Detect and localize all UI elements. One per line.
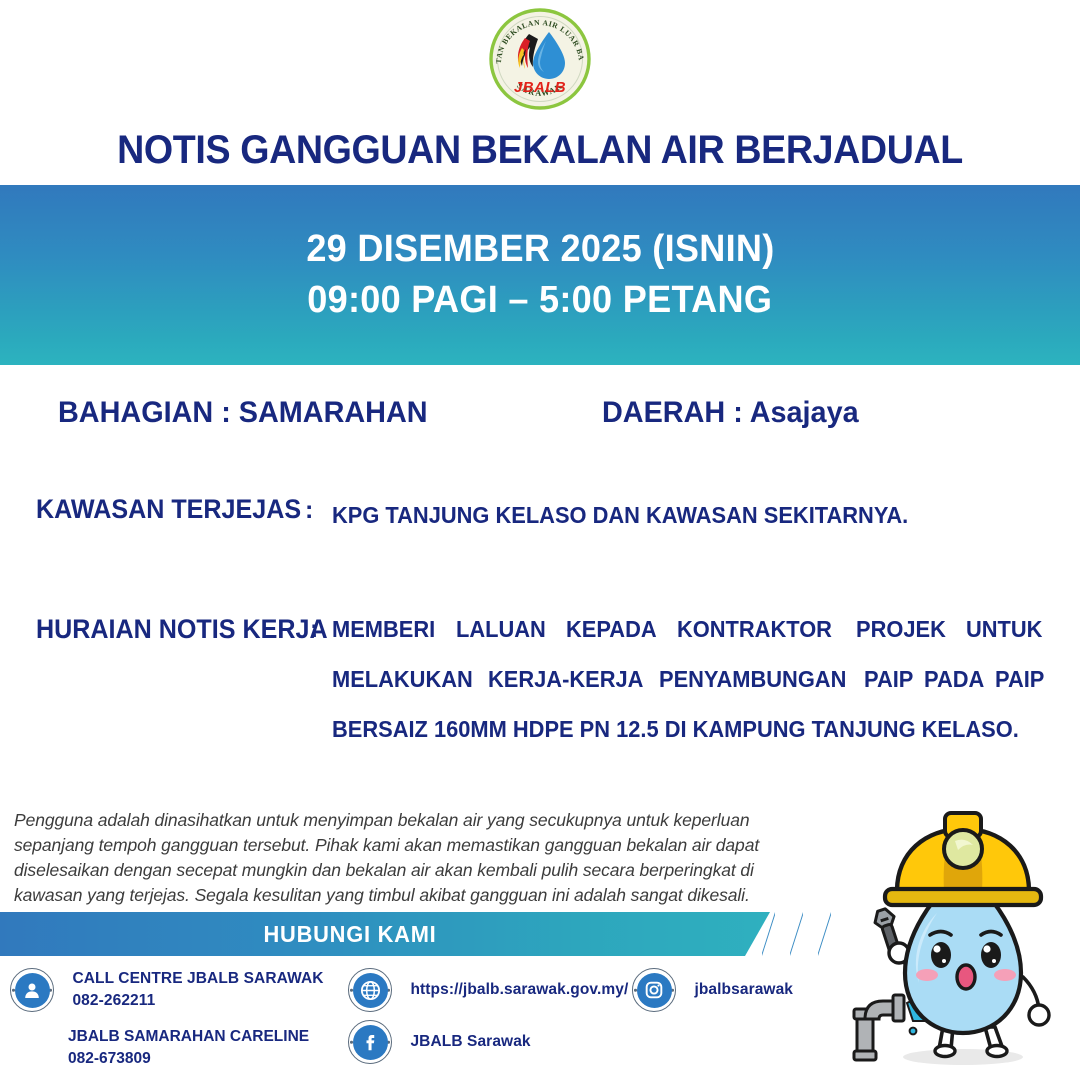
word: BERSAIZ 160MM HDPE PN 12.5 DI KAMPUNG TA… (332, 718, 1019, 741)
word: MEMBERI (332, 618, 435, 641)
work-description-colon: : (310, 615, 318, 644)
page-title: NOTIS GANGGUAN BEKALAN AIR BERJADUAL (32, 128, 1047, 173)
bahagian-label: BAHAGIAN : SAMARAHAN (58, 396, 428, 430)
facebook-handle: JBALB Sarawak (410, 1031, 530, 1053)
work-description-line: MELAKUKAN KERJA-KERJA PENYAMBUNGAN PAIP … (332, 668, 1047, 691)
disclaimer-text: Pengguna adalah dinasihatkan untuk menyi… (14, 808, 789, 907)
jbalb-logo: JABATAN BEKALAN AIR LUAR BANDAR SARAWAK … (489, 8, 591, 112)
word: PAIP (995, 668, 1044, 691)
website-url: https://jbalb.sarawak.gov.my/ (410, 979, 628, 1001)
word: UNTUK (966, 618, 1042, 641)
contact-call-centre[interactable]: CALL CENTRE JBALB SARAWAK 082-262211 (10, 968, 324, 1012)
division-district-row: BAHAGIAN : SAMARAHAN DAERAH : Asajaya (0, 396, 1080, 438)
word: PAIP (864, 668, 913, 691)
daerah-label: DAERAH : Asajaya (602, 396, 859, 430)
contact-facebook[interactable]: JBALB Sarawak (348, 1020, 531, 1064)
svg-text:JBALB: JBALB (514, 79, 566, 96)
word: PADA (924, 668, 984, 691)
banner-stripe-3 (818, 912, 831, 956)
notice-date: 29 DISEMBER 2025 (ISNIN) (306, 226, 774, 273)
word: LALUAN (456, 618, 546, 641)
word: KEPADA (566, 618, 657, 641)
affected-area-value: KPG TANJUNG KELASO DAN KAWASAN SEKITARNY… (332, 502, 908, 529)
date-time-banner: 29 DISEMBER 2025 (ISNIN) 09:00 PAGI – 5:… (0, 185, 1080, 365)
call-centre-name: CALL CENTRE JBALB SARAWAK (72, 970, 323, 987)
contact-careline[interactable]: JBALB SAMARAHAN CARELINE 082-673809 (68, 1026, 309, 1070)
work-description-line: MEMBERI LALUAN KEPADA KONTRAKTOR PROJEK … (332, 618, 1047, 641)
call-centre-phone: 082-262211 (72, 992, 155, 1009)
facebook-icon (348, 1020, 392, 1064)
water-disruption-notice-poster: JABATAN BEKALAN AIR LUAR BANDAR SARAWAK … (0, 0, 1080, 1080)
work-description-body: MEMBERI LALUAN KEPADA KONTRAKTOR PROJEK … (332, 618, 1047, 768)
affected-area-colon: : (305, 496, 313, 525)
banner-stripe-2 (790, 912, 803, 956)
careline-phone: 082-673809 (68, 1050, 151, 1067)
water-droplet-worker-mascot (845, 795, 1075, 1080)
careline-name: JBALB SAMARAHAN CARELINE (68, 1028, 309, 1045)
notice-time: 09:00 PAGI – 5:00 PETANG (308, 277, 773, 324)
instagram-icon (632, 968, 676, 1012)
word: KONTRAKTOR (677, 618, 832, 641)
globe-icon (348, 968, 392, 1012)
contact-banner: HUBUNGI KAMI (0, 912, 770, 956)
contact-instagram[interactable]: jbalbsarawak (632, 968, 793, 1012)
call-centre-text: CALL CENTRE JBALB SARAWAK 082-262211 (72, 968, 323, 1012)
contact-banner-label: HUBUNGI KAMI (18, 912, 683, 956)
affected-area-label: KAWASAN TERJEJAS (36, 494, 301, 525)
word: PENYAMBUNGAN (659, 668, 846, 691)
contact-website[interactable]: https://jbalb.sarawak.gov.my/ (348, 968, 628, 1012)
work-description-line: BERSAIZ 160MM HDPE PN 12.5 DI KAMPUNG TA… (332, 718, 1047, 741)
work-description-label: HURAIAN NOTIS KERJA (36, 614, 328, 645)
word: PROJEK (856, 618, 946, 641)
word: KERJA-KERJA (488, 668, 643, 691)
person-icon (10, 968, 54, 1012)
word: MELAKUKAN (332, 668, 473, 691)
instagram-handle: jbalbsarawak (694, 979, 793, 1001)
